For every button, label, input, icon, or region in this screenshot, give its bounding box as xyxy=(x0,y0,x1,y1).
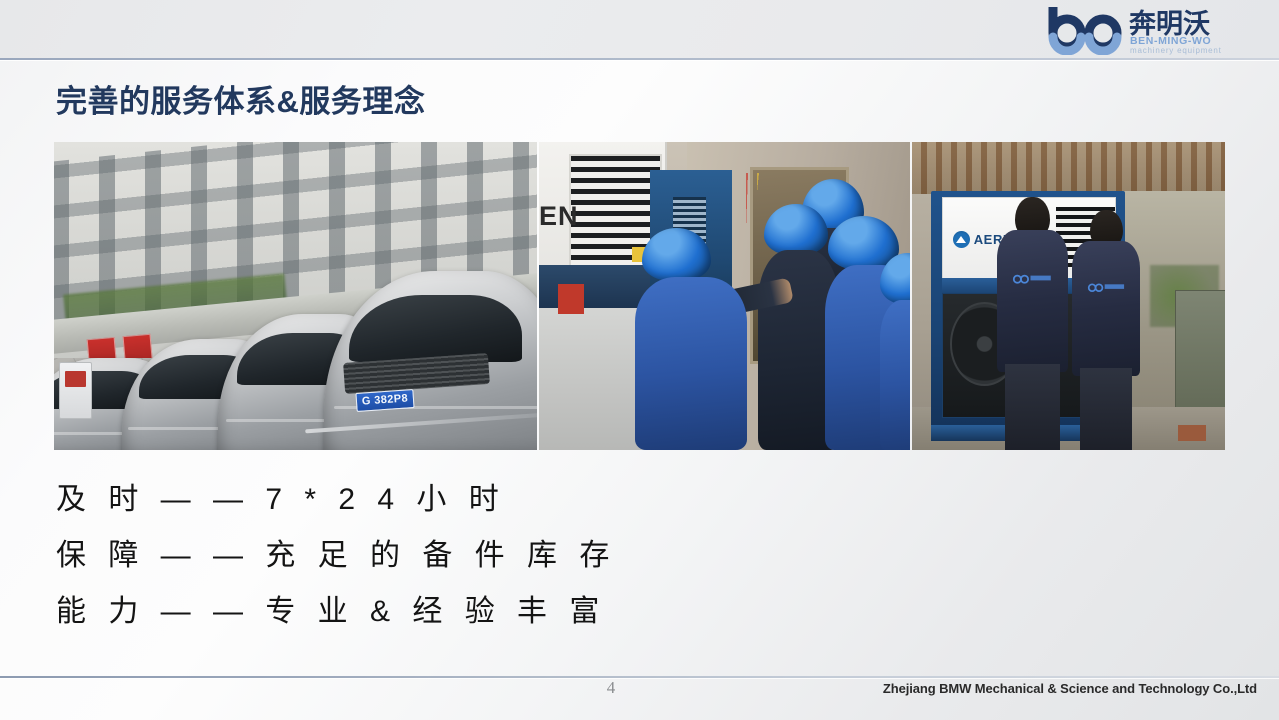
jacket-back-logo xyxy=(1087,279,1127,296)
slide-canvas: 奔明沃 BEN-MING-WO machinery equipment 完善的服… xyxy=(0,0,1279,720)
red-warning-label xyxy=(558,284,584,315)
technician xyxy=(880,253,910,450)
loose-brick xyxy=(1178,425,1206,440)
service-principles-list: 及 时 — — 7 * 2 4 小 时 保 障 — — 充 足 的 备 件 库 … xyxy=(56,472,756,640)
footer-divider-highlight xyxy=(0,678,1279,679)
header-divider-highlight xyxy=(0,60,1279,61)
service-principle-line: 保 障 — — 充 足 的 备 件 库 存 xyxy=(56,528,756,584)
blue-hard-hat xyxy=(764,204,828,256)
photo-gallery: G 382P8 EN xyxy=(54,142,1225,450)
navy-branded-jacket xyxy=(1072,241,1141,376)
company-logo: 奔明沃 BEN-MING-WO machinery equipment xyxy=(1041,3,1271,55)
photo-technicians-servicing-aerzen-blower: AERZEN xyxy=(912,142,1225,450)
navy-branded-jacket xyxy=(997,230,1069,371)
green-equipment-cabinet xyxy=(1175,290,1225,415)
technician-legs xyxy=(1080,368,1132,450)
service-principle-line: 能 力 — — 专 业 & 经 验 丰 富 xyxy=(56,584,756,640)
corrugated-roof xyxy=(912,142,1225,194)
technician-uniform xyxy=(635,277,746,450)
page-title: 完善的服务体系&服务理念 xyxy=(56,76,425,121)
technician-with-branded-jacket xyxy=(997,197,1069,450)
page-number: 4 xyxy=(596,678,626,698)
car-license-plate: G 382P8 xyxy=(355,389,414,412)
aerzen-mountain-icon xyxy=(953,231,970,248)
logo-tagline-text: machinery equipment xyxy=(1130,46,1222,55)
car-windshield xyxy=(349,295,523,362)
technician-legs xyxy=(1005,364,1060,450)
photo-technicians-inspecting-compressor: EN xyxy=(539,142,910,450)
photo-fleet-of-service-cars: G 382P8 xyxy=(54,142,537,450)
footer-company-name: Zhejiang BMW Mechanical & Science and Te… xyxy=(883,681,1257,696)
technician-foreground xyxy=(635,228,746,450)
jacket-back-logo xyxy=(1012,270,1054,288)
technician-uniform xyxy=(880,300,910,450)
blue-hard-hat xyxy=(642,228,711,281)
logo-bo-monogram xyxy=(1053,7,1117,51)
service-principle-line: 及 时 — — 7 * 2 4 小 时 xyxy=(56,472,756,528)
equipment-brand-text: EN xyxy=(539,201,579,232)
parking-kiosk xyxy=(59,362,92,419)
blue-hard-hat xyxy=(880,253,910,304)
technician-with-branded-jacket xyxy=(1072,210,1141,450)
